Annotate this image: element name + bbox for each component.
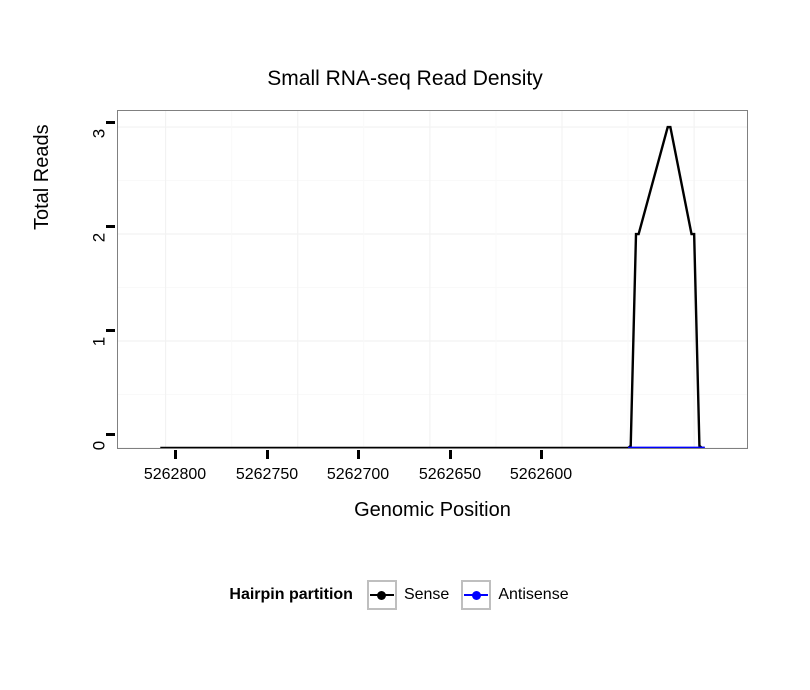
plot-panel (117, 110, 748, 449)
y-tick-label-0: 0 (91, 434, 108, 458)
chart-title: Small RNA-seq Read Density (0, 66, 810, 92)
data-series-layer (118, 111, 747, 448)
legend-point-sense (377, 591, 386, 600)
legend-title: Hairpin partition (229, 586, 353, 604)
y-tick-label-3: 3 (91, 122, 108, 146)
legend-label-antisense: Antisense (498, 586, 568, 604)
series-line-sense (160, 127, 704, 448)
legend-entry-sense[interactable]: Sense (367, 580, 449, 610)
legend-label-sense: Sense (404, 586, 449, 604)
chart-container: Small RNA-seq Read Density Total Reads 3… (0, 0, 810, 690)
y-tick-label-1: 1 (91, 330, 108, 354)
x-tick-mark-4 (540, 450, 543, 459)
y-axis-title: Total Reads (30, 206, 54, 230)
x-tick-label-2: 5262700 (327, 466, 389, 484)
legend-key-antisense (461, 580, 491, 610)
x-tick-label-4: 5262600 (510, 466, 572, 484)
x-tick-mark-3 (449, 450, 452, 459)
legend-entry-antisense[interactable]: Antisense (461, 580, 568, 610)
x-tick-label-1: 5262750 (236, 466, 298, 484)
x-axis-title: Genomic Position (117, 498, 748, 522)
x-tick-mark-2 (357, 450, 360, 459)
legend: Hairpin partition Sense Antisense (0, 580, 810, 610)
legend-key-sense (367, 580, 397, 610)
x-tick-mark-0 (174, 450, 177, 459)
legend-point-antisense (472, 591, 481, 600)
y-tick-label-2: 2 (91, 226, 108, 250)
x-tick-label-0: 5262800 (144, 466, 206, 484)
x-tick-label-3: 5262650 (419, 466, 481, 484)
x-tick-mark-1 (266, 450, 269, 459)
